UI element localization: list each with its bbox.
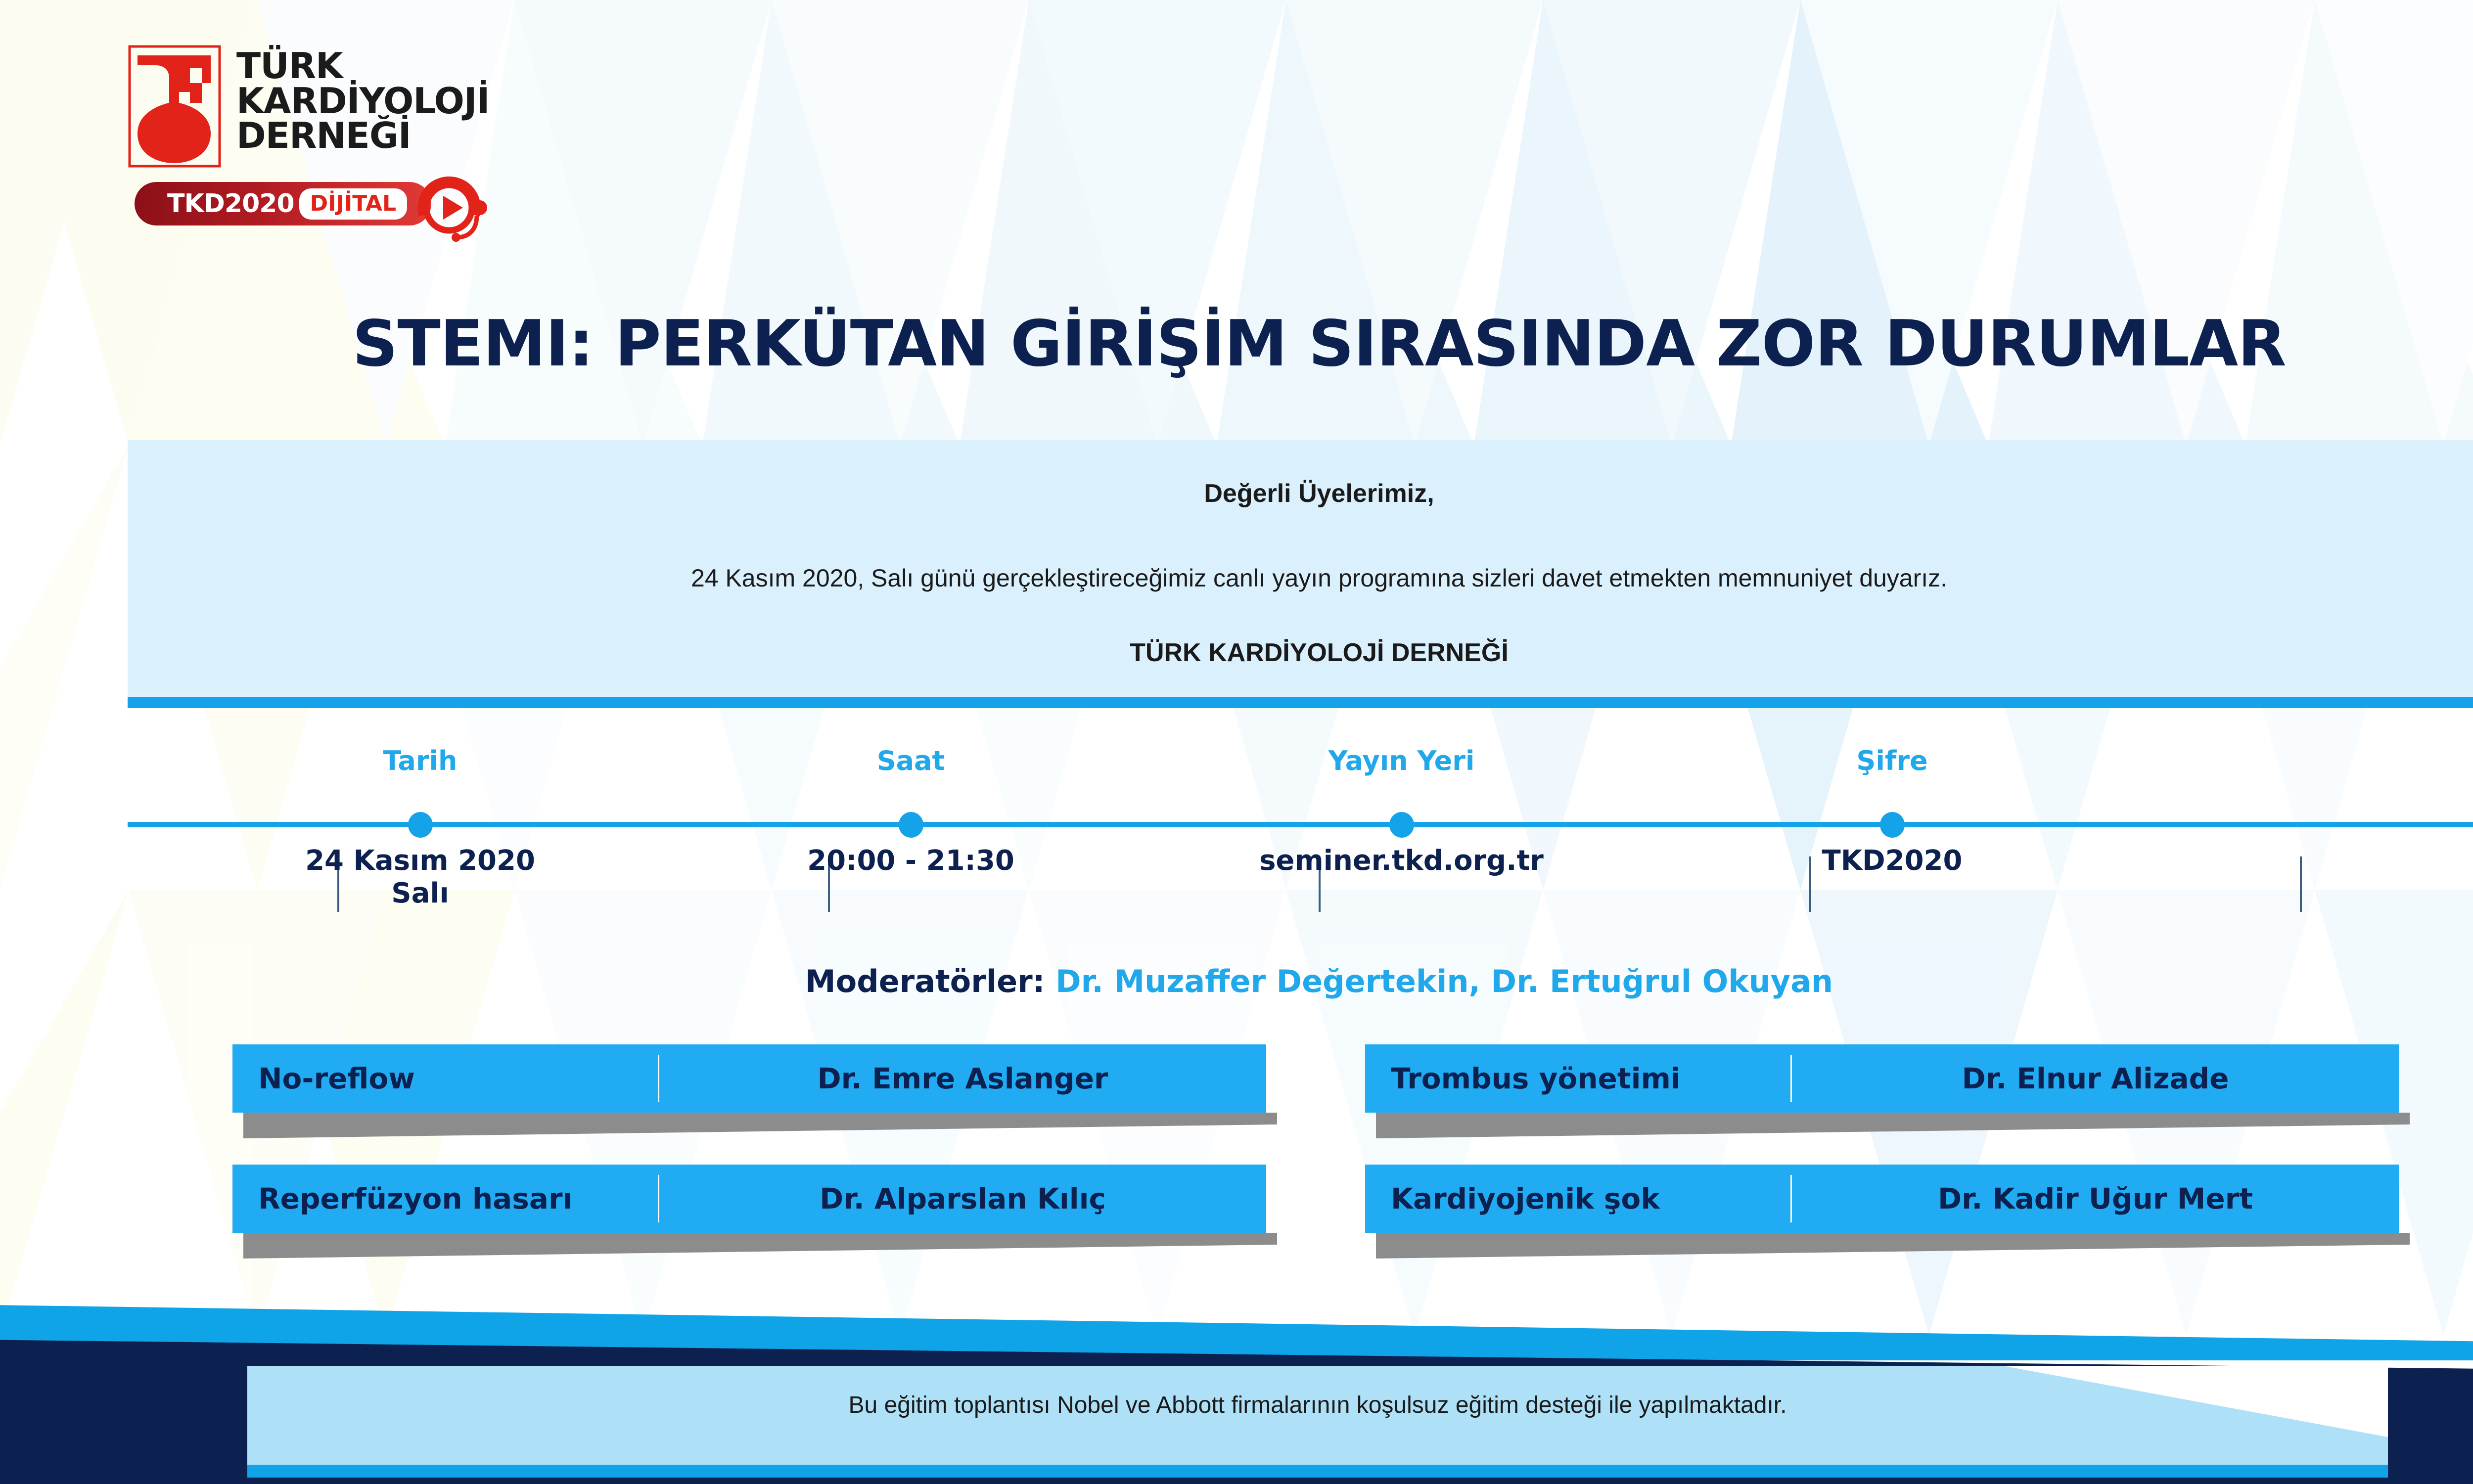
greeting-salutation: Değerli Üyelerimiz, [0,479,2473,508]
info-label: Şifre [1594,737,2190,774]
logo-line-1: TÜRK [236,48,489,84]
info-dot-icon [899,812,923,838]
tkd2020-dijital-badge: TKD2020 DİJİTAL [135,173,501,232]
greeting-box-accent-bar [128,697,2473,708]
event-poster: TÜRK KARDİYOLOJİ DERNEĞİ TKD2020 DİJİTAL… [0,0,2473,1484]
brand-logo: TÜRK KARDİYOLOJİ DERNEĞİ TKD2020 DİJİTAL [128,45,501,232]
session-speaker: Dr. Emre Aslanger [659,1062,1266,1095]
badge-tkd-label: TKD2020 [167,189,294,219]
heart-logo-icon [128,45,222,168]
session-bar[interactable]: Trombus yönetimi Dr. Elnur Alizade [1365,1044,2399,1113]
moderators-label: Moderatörler: [805,963,1045,999]
logo-row: TÜRK KARDİYOLOJİ DERNEĞİ [128,45,501,168]
session-bar[interactable]: Kardiyojenik şok Dr. Kadir Uğur Mert [1365,1165,2399,1233]
info-value: TKD2020 [1594,845,2190,877]
logo-line-2: KARDİYOLOJİ [236,84,489,119]
footer-accent-strip [247,1465,2388,1478]
info-item-sifre: Şifre TKD2020 [1594,737,2190,774]
moderators-line: Moderatörler: Dr. Muzaffer Değertekin, D… [0,963,2473,999]
session-speaker: Dr. Elnur Alizade [1792,1062,2399,1095]
info-tick-4 [2300,856,2302,912]
play-headset-icon [402,168,501,242]
session-bar[interactable]: Reperfüzyon hasarı Dr. Alparslan Kılıç [232,1165,1266,1233]
session-speaker: Dr. Kadir Uğur Mert [1792,1182,2399,1215]
page-title: STEMI: PERKÜTAN GİRİŞİM SIRASINDA ZOR DU… [0,313,2473,376]
event-info-row: Tarih 24 Kasım 2020 Salı Saat 20:00 - 21… [128,737,2473,944]
logo-line-3: DERNEĞİ [236,118,489,153]
badge-dijital-label: DİJİTAL [299,188,407,220]
session-topic: No-reflow [232,1062,658,1095]
moderators-names: Dr. Muzaffer Değertekin, Dr. Ertuğrul Ok… [1055,963,1833,999]
sponsor-footer: Bu eğitim toplantısı Nobel ve Abbott fir… [247,1366,2388,1465]
info-dot-icon [1880,812,1905,838]
session-topic: Reperfüzyon hasarı [232,1182,658,1215]
info-dot-icon [408,812,433,838]
footer-note: Bu eğitim toplantısı Nobel ve Abbott fir… [247,1392,2388,1419]
session-topic: Kardiyojenik şok [1365,1182,1790,1215]
session-topic: Trombus yönetimi [1365,1062,1790,1095]
greeting-body: 24 Kasım 2020, Salı günü gerçekleştirece… [0,564,2473,592]
logo-wordmark: TÜRK KARDİYOLOJİ DERNEĞİ [236,45,489,153]
info-dot-icon [1389,812,1414,838]
info-timeline-line [128,822,2473,827]
session-speaker: Dr. Alparslan Kılıç [659,1182,1266,1215]
badge-pill: TKD2020 DİJİTAL [135,182,431,225]
greeting-signature: TÜRK KARDİYOLOJİ DERNEĞİ [0,638,2473,668]
session-bar[interactable]: No-reflow Dr. Emre Aslanger [232,1044,1266,1113]
